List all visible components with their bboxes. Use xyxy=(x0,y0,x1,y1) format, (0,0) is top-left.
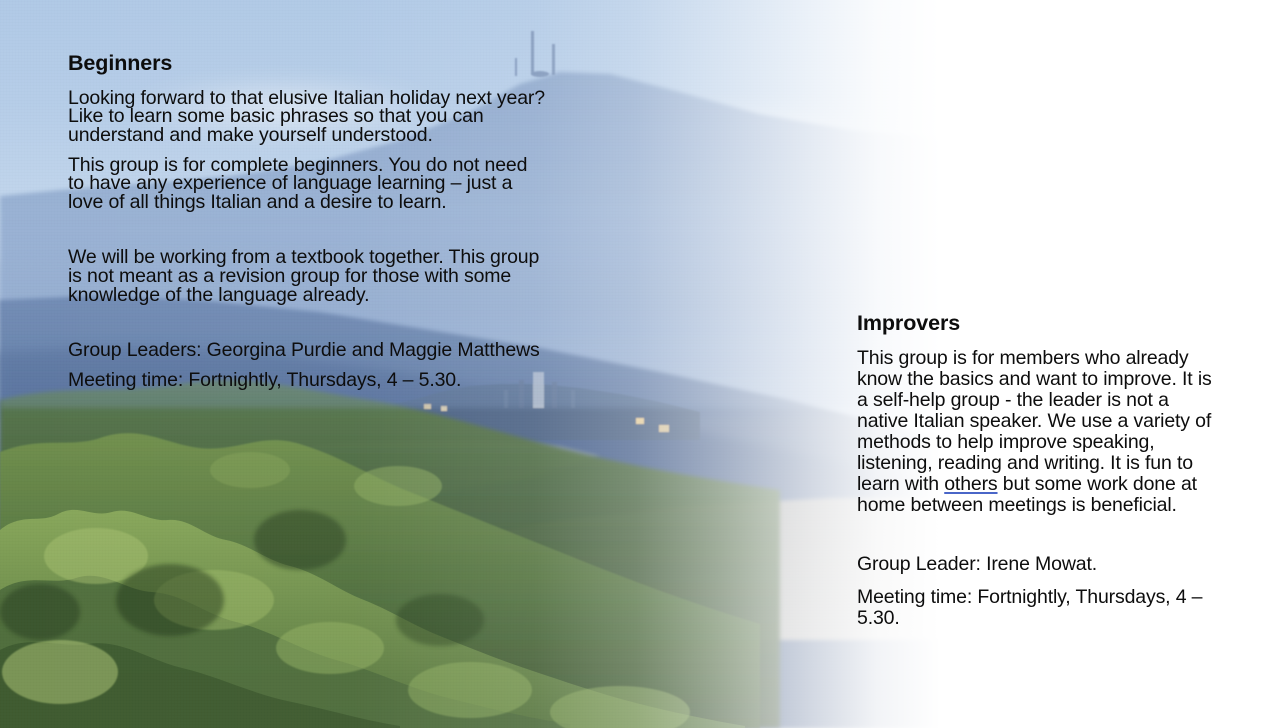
beginners-paragraph-3: We will be working from a textbook toget… xyxy=(68,248,546,304)
beginners-heading: Beginners xyxy=(68,50,546,77)
improvers-column: Improvers This group is for members who … xyxy=(857,310,1223,629)
improvers-body: This group is for members who already kn… xyxy=(857,348,1223,516)
beginners-meeting-time: Meeting time: Fortnightly, Thursdays, 4 … xyxy=(68,371,546,390)
beginners-column: Beginners Looking forward to that elusiv… xyxy=(68,50,546,389)
improvers-group-leader: Group Leader: Irene Mowat. xyxy=(857,554,1223,575)
beginners-paragraph-1: Looking forward to that elusive Italian … xyxy=(68,89,546,145)
improvers-others-link[interactable]: others xyxy=(944,473,997,495)
slide: Beginners Looking forward to that elusiv… xyxy=(0,0,1271,728)
beginners-paragraph-2: This group is for complete beginners. Yo… xyxy=(68,156,546,212)
improvers-meeting-time: Meeting time: Fortnightly, Thursdays, 4 … xyxy=(857,587,1223,629)
improvers-heading: Improvers xyxy=(857,310,1223,337)
beginners-group-leaders: Group Leaders: Georgina Purdie and Maggi… xyxy=(68,341,546,360)
